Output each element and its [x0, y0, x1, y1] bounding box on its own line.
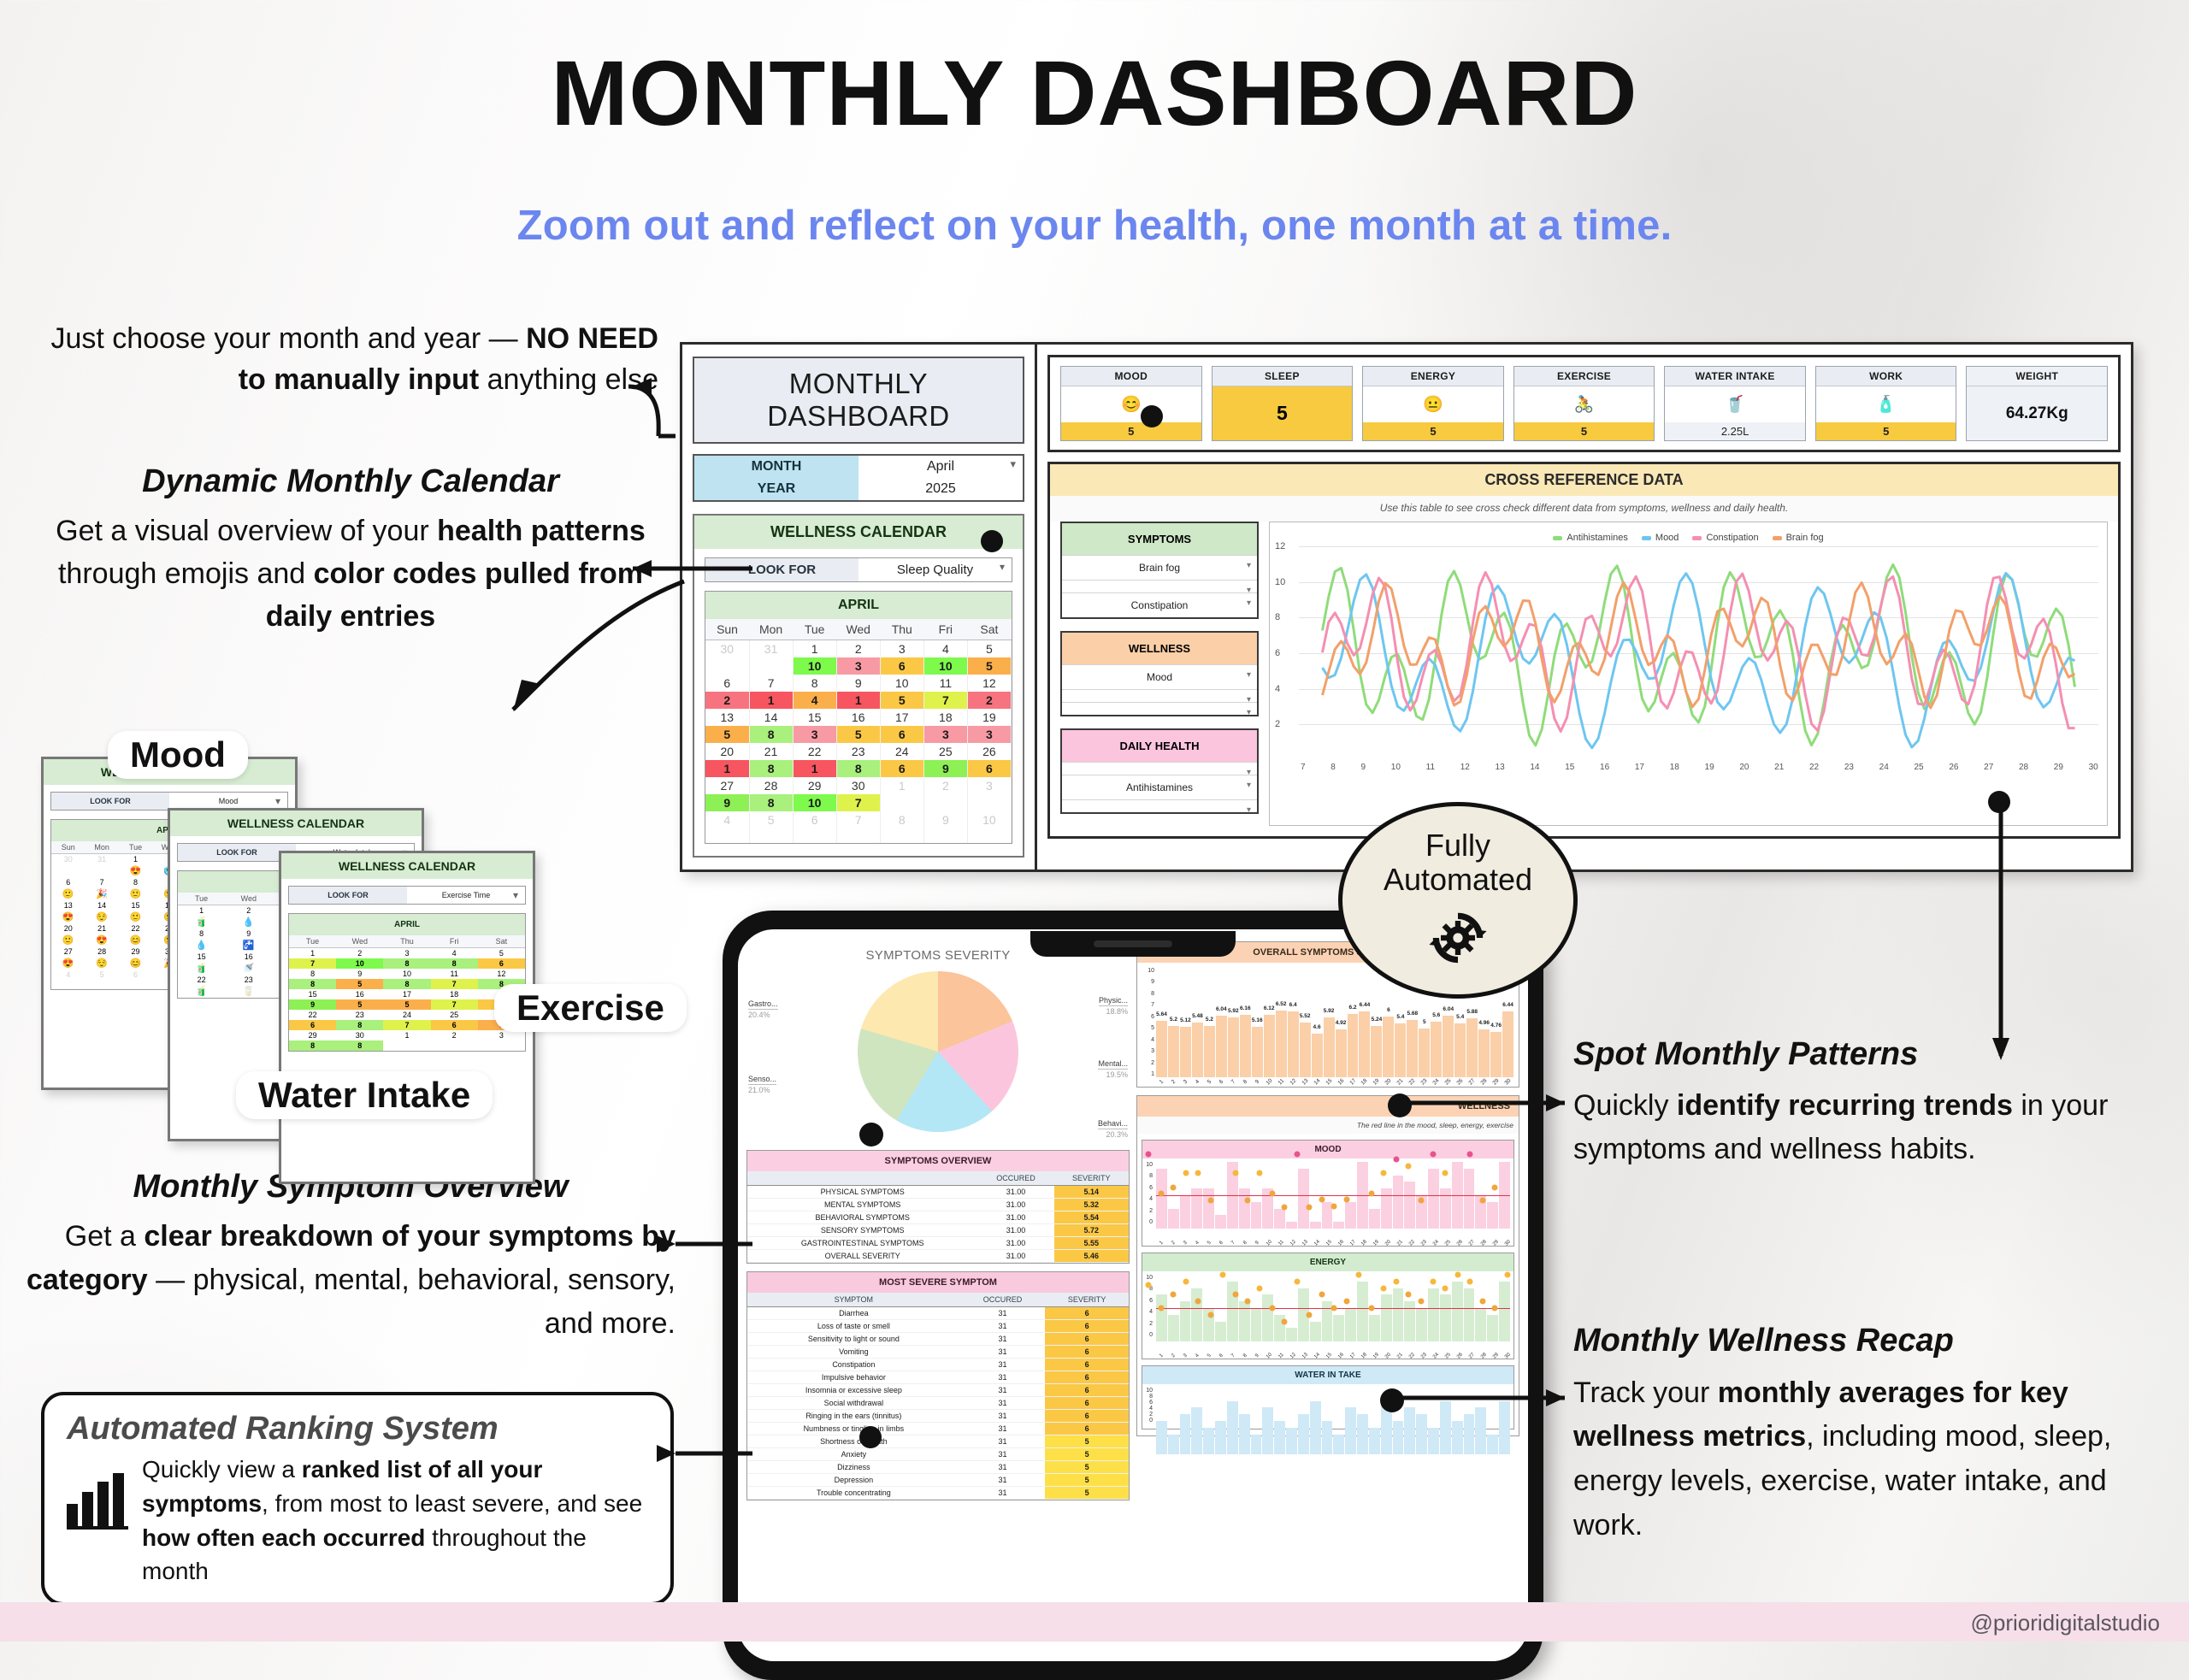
- calendar-day-row: 27282930123: [705, 777, 1012, 794]
- pie-label-behavioral: Behavi...20.3%: [1098, 1118, 1128, 1140]
- calendar-day-number: 30: [336, 1030, 383, 1040]
- calendar-day-number: 8: [289, 969, 336, 979]
- bar: 5.2: [1168, 1026, 1179, 1077]
- occured-value: 31: [960, 1371, 1046, 1384]
- calendar-value-row: 88: [289, 1040, 525, 1051]
- x-tick-label: 13: [1496, 763, 1505, 772]
- bar: 5.16: [1252, 1027, 1263, 1077]
- calendar-value-cell[interactable]: 7: [431, 979, 478, 989]
- calendar-value-cell[interactable]: 7: [383, 1020, 430, 1030]
- calendar-emoji-cell[interactable]: [85, 864, 118, 877]
- month-value[interactable]: April: [858, 456, 1023, 478]
- look-for-label: LOOK FOR: [51, 793, 169, 810]
- bar: [1464, 1169, 1475, 1229]
- xref-dropdown[interactable]: Mood: [1062, 664, 1257, 689]
- calendar-day-number: 22: [119, 923, 152, 934]
- calendar-value-cell[interactable]: 4: [793, 692, 836, 709]
- symptom-name: SENSORY SYMPTOMS: [747, 1224, 977, 1237]
- bar: [1168, 1209, 1179, 1229]
- bar: 6.2: [1348, 1014, 1359, 1077]
- bar-value-label: 5.16: [1252, 1017, 1263, 1023]
- calendar-value-cell[interactable]: [705, 828, 749, 843]
- data-point-marker: [1294, 1151, 1300, 1157]
- x-tick-label: 22: [1407, 1076, 1419, 1088]
- calendar-month-title: APRIL: [705, 592, 1012, 619]
- neutral-emoji: 😐: [1423, 386, 1443, 422]
- x-tick-label: 16: [1600, 763, 1609, 772]
- energy-chart-plot: 1086420: [1142, 1271, 1513, 1353]
- dashboard-left-column: MONTHLY DASHBOARD MONTH April YEAR 2025 …: [682, 345, 1037, 869]
- bar: 6.04: [1216, 1016, 1227, 1077]
- look-for-selector-exercise[interactable]: LOOK FOR Exercise Time: [288, 886, 526, 905]
- calendar-emoji-cell[interactable]: [119, 980, 152, 989]
- page-title: MONTHLY DASHBOARD: [0, 39, 2189, 146]
- bar: [1286, 1222, 1297, 1229]
- severity-value: 5: [1045, 1448, 1129, 1461]
- x-tick-label: 14: [1530, 763, 1539, 772]
- bar: 4.76: [1490, 1032, 1502, 1077]
- bar-value-label: 6.04: [1216, 1006, 1227, 1012]
- month-year-selector[interactable]: MONTH April YEAR 2025: [693, 454, 1024, 502]
- occured-value: 31.00: [977, 1224, 1053, 1237]
- severity-value: 5.54: [1054, 1211, 1129, 1224]
- calendar-day-number: 9: [836, 675, 880, 692]
- water-chart-card: WATER IN TAKE 1086420: [1142, 1365, 1514, 1429]
- calendar-emoji-cell[interactable]: 💧: [225, 916, 272, 928]
- calendar-day-number: 5: [478, 948, 525, 959]
- xref-dropdown[interactable]: [1062, 702, 1257, 715]
- x-tick-label: 15: [1323, 1076, 1335, 1088]
- x-tick-label: 27: [1984, 763, 1993, 772]
- calendar-emoji-cell[interactable]: 🧃: [178, 962, 225, 975]
- xref-group-wellness: WELLNESSMood: [1060, 631, 1259, 716]
- desktop-dashboard: MONTHLY DASHBOARD MONTH April YEAR 2025 …: [680, 342, 2133, 872]
- calendar-emoji-cell[interactable]: 😊: [119, 934, 152, 946]
- calendar-value-cell[interactable]: [880, 828, 923, 843]
- bar: 6.44: [1502, 1011, 1513, 1077]
- metric-value: 64.27Kg: [2006, 386, 2068, 440]
- bar-value-label: 4.6: [1313, 1024, 1321, 1030]
- calendar-emoji-cell[interactable]: 🥛: [225, 985, 272, 998]
- calendar-day-number: 22: [178, 975, 225, 985]
- chart-legend: AntihistaminesMoodConstipationBrain fog: [1275, 529, 2102, 545]
- x-tick-label: 20: [1739, 763, 1749, 772]
- data-point-marker: [1282, 1318, 1288, 1324]
- calendar-value-cell[interactable]: 8: [289, 979, 336, 989]
- metric-card-work: WORK🧴5: [1815, 366, 1957, 441]
- calendar-day-number: 2: [836, 640, 880, 658]
- y-tick-label: 6: [1275, 648, 1280, 658]
- calendar-emoji-cell[interactable]: 💧: [178, 939, 225, 952]
- calendar-emoji-cell[interactable]: 🙂: [51, 887, 85, 900]
- calendar-weekday: Thu: [880, 619, 923, 640]
- xref-dropdown[interactable]: [1062, 762, 1257, 775]
- calendar-value-cell[interactable]: [705, 657, 749, 675]
- calendar-value-cell[interactable]: 10: [793, 657, 836, 675]
- xref-group-title: DAILY HEALTH: [1062, 730, 1257, 762]
- year-value[interactable]: 2025: [858, 478, 1023, 500]
- calendar-weekday: Fri: [923, 619, 967, 640]
- y-tick-label: 2: [1149, 1208, 1153, 1214]
- calendar-value-cell[interactable]: 8: [749, 726, 793, 743]
- calendar-day-number: 1: [880, 777, 923, 794]
- table-row: Ringing in the ears (tinnitus)316: [747, 1410, 1129, 1423]
- calendar-emoji-cell[interactable]: [51, 864, 85, 877]
- table-row: Sensitivity to light or sound316: [747, 1333, 1129, 1346]
- xref-dropdown[interactable]: Antihistamines: [1062, 775, 1257, 799]
- chart-x-axis: 7891011121314151617181920212223242526272…: [1275, 760, 2102, 772]
- calendar-day-number: 1: [793, 640, 836, 658]
- calendar-value-cell[interactable]: 7: [431, 999, 478, 1010]
- xref-dropdown[interactable]: [1062, 799, 1257, 812]
- data-point-marker: [1418, 1198, 1424, 1204]
- bar: [1310, 1322, 1321, 1341]
- bar-value-label: 6.44: [1502, 1002, 1513, 1008]
- calendar-value-cell[interactable]: 3: [836, 657, 880, 675]
- calendar-value-cell[interactable]: [967, 828, 1011, 843]
- look-for-value[interactable]: Mood: [169, 793, 287, 810]
- calendar-value-cell[interactable]: 10: [923, 657, 967, 675]
- severity-value: 6: [1045, 1384, 1129, 1397]
- calendar-emoji-cell[interactable]: 😍: [51, 957, 85, 970]
- calendar-day-number: 30: [836, 777, 880, 794]
- calendar-value-cell[interactable]: 6: [880, 657, 923, 675]
- calendar-emoji-cell[interactable]: 😌: [85, 911, 118, 923]
- calendar-day-number: 3: [880, 640, 923, 658]
- calendar-value-cell[interactable]: 5: [383, 999, 430, 1010]
- calendar-emoji-cell[interactable]: 😊: [119, 957, 152, 970]
- bar-value-label: 5.52: [1300, 1013, 1311, 1019]
- symptom-name: Loss of taste or smell: [747, 1320, 960, 1333]
- calendar-value-cell[interactable]: 1: [705, 760, 749, 777]
- calendar-emoji-cell[interactable]: [51, 980, 85, 989]
- calendar-weekday: Tue: [178, 893, 225, 905]
- calendar-weekday: Wed: [336, 935, 383, 948]
- xref-dropdown[interactable]: Constipation: [1062, 592, 1257, 617]
- annotation-ranking-card: Automated Ranking System Quickly view a …: [41, 1392, 674, 1606]
- data-point-marker: [1393, 1156, 1399, 1162]
- calendar-value-row: 1036105: [705, 657, 1012, 675]
- calendar-emoji-cell[interactable]: 🧃: [178, 985, 225, 998]
- bar: [1286, 1328, 1297, 1341]
- data-point-marker: [1269, 1305, 1275, 1311]
- bar-value-label: 4.92: [1336, 1020, 1347, 1026]
- energy-chart-card: ENERGY 1086420 1234567891011121314151617…: [1142, 1253, 1514, 1359]
- calendar-value-cell[interactable]: 7: [923, 692, 967, 709]
- badge-line-1: Fully: [1425, 828, 1490, 863]
- calendar-day-number: 12: [478, 969, 525, 979]
- y-tick-label: 2: [1149, 1321, 1153, 1327]
- calendar-value-cell[interactable]: [793, 828, 836, 843]
- phone-notch: [1030, 931, 1236, 957]
- calendar-emoji-cell[interactable]: 🙂: [119, 911, 152, 923]
- calendar-value-cell[interactable]: 8: [836, 760, 880, 777]
- side-card-pill-exercise: Exercise: [494, 984, 687, 1032]
- annotation-heading: Monthly Wellness Recap: [1573, 1317, 2172, 1366]
- bar: 5.48: [1192, 1023, 1203, 1077]
- data-point-marker: [1368, 1305, 1374, 1311]
- bar-value-label: 5.64: [1156, 1011, 1167, 1017]
- bar-value-label: 4.96: [1478, 1020, 1490, 1026]
- symptom-name: Ringing in the ears (tinnitus): [747, 1410, 960, 1423]
- bar-value-label: 5.2: [1170, 1017, 1177, 1023]
- x-tick-label: 23: [1844, 763, 1854, 772]
- calendar-value-cell[interactable]: 5: [705, 726, 749, 743]
- calendar-weekday: Sat: [478, 935, 525, 948]
- calendar-value-cell[interactable]: 5: [967, 657, 1011, 675]
- bar: 5.64: [1156, 1021, 1167, 1077]
- bar: [1286, 1428, 1297, 1454]
- severity-value: 5.72: [1054, 1224, 1129, 1237]
- annotation-text: Quickly identify recurring trends in you…: [1573, 1089, 2108, 1165]
- calendar-value-cell[interactable]: [749, 828, 793, 843]
- bar: [1168, 1435, 1179, 1454]
- look-for-label: LOOK FOR: [705, 558, 858, 581]
- legend-label: Mood: [1655, 533, 1679, 543]
- occured-value: 31: [960, 1423, 1046, 1435]
- calendar-value-cell[interactable]: 1: [793, 760, 836, 777]
- wellness-calendar-heading: WELLNESS CALENDAR: [694, 516, 1023, 549]
- x-tick-label: 9: [1361, 763, 1366, 772]
- calendar-day-number: 2: [923, 777, 967, 794]
- occured-value: 31.00: [977, 1250, 1053, 1263]
- bar: 6.16: [1240, 1015, 1251, 1077]
- bar: [1428, 1169, 1439, 1229]
- severity-value: 6: [1045, 1371, 1129, 1384]
- xref-dropdown[interactable]: [1062, 580, 1257, 592]
- metric-cards-row: MOOD😊5SLEEP5ENERGY😐5EXERCISE🚴5WATER INTA…: [1047, 355, 2121, 452]
- bar: [1428, 1428, 1439, 1454]
- water-chart-plot: 1086420: [1142, 1384, 1513, 1429]
- calendar-value-cell[interactable]: [836, 828, 880, 843]
- occured-value: 31: [960, 1333, 1046, 1346]
- look-for-value[interactable]: Exercise Time: [407, 887, 525, 904]
- calendar-value-cell[interactable]: 6: [478, 958, 525, 969]
- y-tick-label: 10: [1146, 1388, 1153, 1394]
- calendar-value-cell[interactable]: 8: [749, 760, 793, 777]
- calendar-value-cell[interactable]: [383, 1040, 430, 1051]
- bar: [1333, 1222, 1344, 1229]
- bar-value-label: 6.12: [1264, 1005, 1275, 1011]
- calendar-value-cell[interactable]: 8: [336, 1020, 383, 1030]
- calendar-day-number: 4: [51, 970, 85, 980]
- calendar-day-number: 4: [705, 811, 749, 828]
- occured-value: 31: [960, 1474, 1046, 1487]
- calendar-weekday: Mon: [85, 841, 118, 854]
- calendar-value-row: [705, 828, 1012, 843]
- look-for-selector[interactable]: LOOK FOR Sleep Quality: [705, 557, 1012, 582]
- calendar-day-number: 22: [289, 1010, 336, 1020]
- table-row: Shortness of breath315: [747, 1435, 1129, 1448]
- calendar-emoji-cell[interactable]: 😌: [85, 957, 118, 970]
- calendar-value-cell[interactable]: 8: [431, 958, 478, 969]
- data-point-marker: [1343, 1197, 1349, 1203]
- pie-label-gastro: Gastro...20.4%: [748, 999, 778, 1020]
- data-point-marker: [1454, 1271, 1460, 1277]
- x-tick-label: 30: [1502, 1076, 1514, 1088]
- calendar-day-number: 8: [119, 877, 152, 887]
- calendar-value-cell[interactable]: 10: [336, 958, 383, 969]
- bar-value-label: 4.76: [1490, 1023, 1502, 1029]
- bar: [1404, 1182, 1415, 1229]
- bar: 6.52: [1276, 1011, 1287, 1078]
- x-tick-label: 7: [1227, 1076, 1239, 1088]
- side-card-pill-mood: Mood: [108, 731, 248, 779]
- symptoms-overview-heading: SYMPTOMS OVERVIEW: [747, 1151, 1129, 1171]
- symptom-name: Sensitivity to light or sound: [747, 1333, 960, 1346]
- calendar-value-cell[interactable]: 3: [923, 726, 967, 743]
- y-tick-label: 0: [1149, 1332, 1153, 1338]
- calendar-value-cell[interactable]: [967, 794, 1011, 811]
- calendar-value-cell[interactable]: 6: [431, 1020, 478, 1030]
- legend-swatch: [1692, 536, 1702, 540]
- calendar-day-number: 24: [880, 743, 923, 760]
- calendar-value-cell[interactable]: [923, 828, 967, 843]
- calendar-value-cell[interactable]: 1: [836, 692, 880, 709]
- look-for-value[interactable]: Sleep Quality: [858, 558, 1012, 581]
- calendar-emoji-cell[interactable]: 🙂: [51, 934, 85, 946]
- calendar-emoji-cell[interactable]: 🙂: [119, 887, 152, 900]
- bar: [1156, 1169, 1167, 1229]
- data-point-marker: [1282, 1204, 1288, 1210]
- calendar-day-number: 13: [51, 900, 85, 911]
- calendar-day-number: 26: [967, 743, 1011, 760]
- calendar-value-cell[interactable]: 1: [749, 692, 793, 709]
- pie-label-mental: Mental...19.5%: [1098, 1058, 1128, 1080]
- data-point-marker: [1418, 1299, 1424, 1305]
- calendar-day-number: 7: [836, 811, 880, 828]
- calendar-value-cell[interactable]: 2: [967, 692, 1011, 709]
- calendar-day-number: 10: [967, 811, 1011, 828]
- calendar-value-cell[interactable]: 8: [289, 1040, 336, 1051]
- calendar-value-cell[interactable]: 9: [705, 794, 749, 811]
- calendar-value-cell[interactable]: [923, 794, 967, 811]
- x-tick-label: 27: [1466, 1076, 1478, 1088]
- y-tick-label: 6: [1149, 1185, 1153, 1191]
- calendar-value-cell[interactable]: 8: [336, 1040, 383, 1051]
- calendar-day-number: 19: [967, 709, 1011, 726]
- calendar-day-number: 2: [225, 905, 272, 917]
- calendar-day-number: 29: [793, 777, 836, 794]
- calendar-emoji-cell[interactable]: 😍: [51, 911, 85, 923]
- x-tick-label: 19: [1371, 1076, 1383, 1088]
- x-tick-label: 4: [1191, 1076, 1203, 1088]
- bar: [1215, 1322, 1226, 1341]
- occured-value: 31: [960, 1346, 1046, 1359]
- calendar-emoji-cell[interactable]: 🚰: [225, 939, 272, 952]
- metric-card-mood: MOOD😊5: [1060, 366, 1202, 441]
- xref-group-title: WELLNESS: [1062, 633, 1257, 664]
- cross-reference-panel: CROSS REFERENCE DATA Use this table to s…: [1047, 462, 2121, 839]
- calendar-value-cell[interactable]: 6: [880, 726, 923, 743]
- bar: [1251, 1202, 1262, 1229]
- calendar-day-row: 2223242526: [289, 1010, 525, 1020]
- data-point-marker: [1158, 1305, 1164, 1311]
- y-tick-label: 2: [1275, 719, 1280, 729]
- calendar-day-number: 30: [705, 640, 749, 658]
- calendar-value-cell[interactable]: 8: [383, 979, 430, 989]
- calendar-value-cell[interactable]: 3: [793, 726, 836, 743]
- severity-value: 6: [1045, 1307, 1129, 1320]
- calendar-value-cell[interactable]: 8: [383, 958, 430, 969]
- calendar-value-cell[interactable]: 5: [880, 692, 923, 709]
- pie-label-sensory: Senso...21.0%: [748, 1074, 776, 1095]
- table-row: BEHAVIORAL SYMPTOMS31.005.54: [747, 1211, 1129, 1224]
- bar: [1180, 1195, 1191, 1229]
- xref-dropdown[interactable]: Brain fog: [1062, 555, 1257, 580]
- calendar-value-cell[interactable]: [431, 1040, 478, 1051]
- table-row: GASTROINTESTINAL SYMPTOMS31.005.55: [747, 1237, 1129, 1250]
- line-chart-svg: [1299, 546, 2098, 760]
- calendar-value-cell[interactable]: [880, 794, 923, 811]
- calendar-value-cell[interactable]: 3: [967, 726, 1011, 743]
- data-point-marker: [1319, 1197, 1325, 1203]
- calendar-emoji-cell[interactable]: 😍: [119, 864, 152, 877]
- x-tick-label: 29: [1490, 1076, 1502, 1088]
- footer-bar: @prioridigitalstudio: [0, 1602, 2189, 1642]
- calendar-value-cell[interactable]: 8: [749, 794, 793, 811]
- severity-value: 6: [1045, 1346, 1129, 1359]
- metric-card-energy: ENERGY😐5: [1362, 366, 1504, 441]
- xref-dropdown[interactable]: [1062, 689, 1257, 702]
- calendar-emoji-cell[interactable]: 🎉: [85, 887, 118, 900]
- calendar-value-cell[interactable]: 7: [836, 794, 880, 811]
- calendar-day-number: 14: [85, 900, 118, 911]
- bar: [1487, 1202, 1498, 1229]
- calendar-value-cell[interactable]: [749, 657, 793, 675]
- x-tick-label: 13: [1299, 1076, 1311, 1088]
- x-tick-label: 26: [1949, 763, 1958, 772]
- calendar-value-cell[interactable]: 6: [967, 760, 1011, 777]
- calendar-value-cell[interactable]: 9: [923, 760, 967, 777]
- bar-chart-y-axis: 10987654321: [1142, 968, 1156, 1077]
- x-tick-label: 21: [1774, 763, 1784, 772]
- calendar-value-cell[interactable]: 5: [336, 999, 383, 1010]
- table-row: MENTAL SYMPTOMS31.005.32: [747, 1199, 1129, 1211]
- calendar-value-cell[interactable]: 6: [289, 1020, 336, 1030]
- calendar-value-cell[interactable]: [478, 1040, 525, 1051]
- calendar-value-cell[interactable]: 6: [880, 760, 923, 777]
- x-tick-label: 11: [1275, 1076, 1287, 1088]
- data-point-marker: [1257, 1285, 1263, 1291]
- calendar-day-row: 2930123: [289, 1030, 525, 1040]
- calendar-emoji-cell[interactable]: 🧃: [178, 916, 225, 928]
- bar: [1475, 1407, 1486, 1454]
- bar: [1345, 1308, 1356, 1341]
- calendar-value-cell[interactable]: 5: [336, 979, 383, 989]
- calendar-day-number: 9: [923, 811, 967, 828]
- calendar-emoji-cell[interactable]: 🚿: [225, 962, 272, 975]
- calendar-weekday: Fri: [431, 935, 478, 948]
- calendar-value-cell[interactable]: 10: [793, 794, 836, 811]
- bar: [1215, 1421, 1226, 1454]
- table-row: Loss of taste or smell316: [747, 1320, 1129, 1333]
- bar-chart-x-axis: 1234567891011121314151617181920212223242…: [1142, 1079, 1513, 1085]
- data-point-marker: [1479, 1299, 1485, 1305]
- bar: [1298, 1414, 1309, 1454]
- occured-value: 31: [960, 1448, 1046, 1461]
- calendar-emoji-cell[interactable]: [85, 980, 118, 989]
- x-tick-label: 28: [2019, 763, 2028, 772]
- calendar-value-cell[interactable]: 2: [705, 692, 749, 709]
- data-point-marker: [1146, 1282, 1152, 1288]
- table-row: Anxiety315: [747, 1448, 1129, 1461]
- annotation-text: Quickly view a ranked list of all your s…: [142, 1453, 648, 1589]
- calendar-emoji-cell[interactable]: 😍: [85, 934, 118, 946]
- calendar-value-cell[interactable]: 9: [289, 999, 336, 1010]
- calendar-value-cell[interactable]: 5: [836, 726, 880, 743]
- calendar-value-cell[interactable]: 7: [289, 958, 336, 969]
